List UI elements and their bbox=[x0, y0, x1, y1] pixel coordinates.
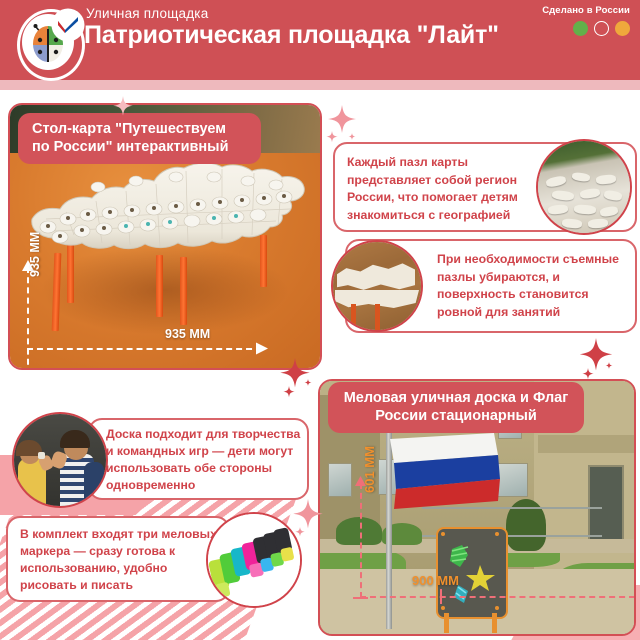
made-in-russia-label: Сделано в России bbox=[542, 5, 630, 16]
board-horizontal-dimension-label: 900 ММ bbox=[412, 573, 459, 588]
callout-removable-puzzles-text: При необходимости съемные пазлы убираютс… bbox=[437, 251, 629, 321]
map-table-card-title: Стол-карта "Путешествуем по России" инте… bbox=[18, 113, 261, 164]
table-leg bbox=[180, 257, 187, 325]
chalkboard-leg bbox=[492, 613, 497, 633]
shrub bbox=[336, 517, 382, 545]
map-vertical-dimension-label: 935 ММ bbox=[28, 232, 42, 277]
badge-dot-white bbox=[594, 21, 609, 36]
russia-check-badge-icon bbox=[53, 10, 83, 40]
chalk-markers-image bbox=[208, 514, 300, 606]
building-entrance-canopy bbox=[538, 435, 634, 453]
board-vertical-dimension-line bbox=[360, 483, 362, 598]
horizontal-dimension-arrow bbox=[255, 342, 269, 355]
callout-puzzle-region-text: Каждый пазл карты представляет собой рег… bbox=[347, 154, 547, 224]
infographic-page: Уличная площадка Патриотическая площадка… bbox=[0, 0, 640, 640]
made-in-russia-badge: Сделано в России bbox=[542, 5, 630, 36]
callout-board-creativity: Доска подходит для творчества и командны… bbox=[88, 418, 309, 500]
dimension-tick bbox=[440, 589, 442, 604]
callout-chalk-markers: В комплект входят три меловых маркера — … bbox=[6, 516, 230, 602]
map-without-puzzles-photo bbox=[331, 240, 423, 332]
brand-logo bbox=[13, 5, 85, 77]
board-horizontal-dimension-line bbox=[360, 596, 636, 598]
map-puzzle-closeup-photo bbox=[536, 139, 632, 235]
map-horizontal-dimension-label: 935 ММ bbox=[165, 327, 210, 341]
puzzle-closeup-image bbox=[538, 141, 630, 233]
chalkboard-leg bbox=[444, 613, 449, 633]
children-drawing-image bbox=[14, 414, 106, 506]
made-in-russia-dots bbox=[542, 21, 630, 36]
russia-map-table-top bbox=[26, 157, 308, 263]
board-vertical-dimension-label: 601 ММ bbox=[362, 446, 377, 493]
horizontal-dimension-line bbox=[27, 348, 262, 350]
header-accent-strip bbox=[0, 80, 640, 90]
badge-dot-orange bbox=[615, 21, 630, 36]
children-drawing-photo bbox=[12, 412, 108, 508]
sparkle-icon bbox=[576, 336, 618, 384]
chalk-markers-photo bbox=[206, 512, 302, 608]
callout-board-creativity-text: Доска подходит для творчества и командны… bbox=[106, 426, 302, 494]
vertical-dimension-line bbox=[27, 267, 29, 370]
page-title: Патриотическая площадка "Лайт" bbox=[84, 21, 514, 49]
header-eyebrow: Уличная площадка bbox=[86, 6, 208, 21]
badge-dot-green bbox=[573, 21, 588, 36]
building-window bbox=[328, 463, 352, 497]
sparkle-icon bbox=[322, 103, 358, 145]
table-leg bbox=[156, 255, 163, 317]
callout-chalk-markers-text: В комплект входят три меловых маркера — … bbox=[20, 526, 218, 594]
board-flag-card-title: Меловая уличная доска и Флаг России стац… bbox=[328, 382, 584, 433]
russia-flag bbox=[390, 433, 500, 509]
building-window bbox=[496, 463, 528, 497]
removable-puzzles-image bbox=[333, 242, 421, 330]
